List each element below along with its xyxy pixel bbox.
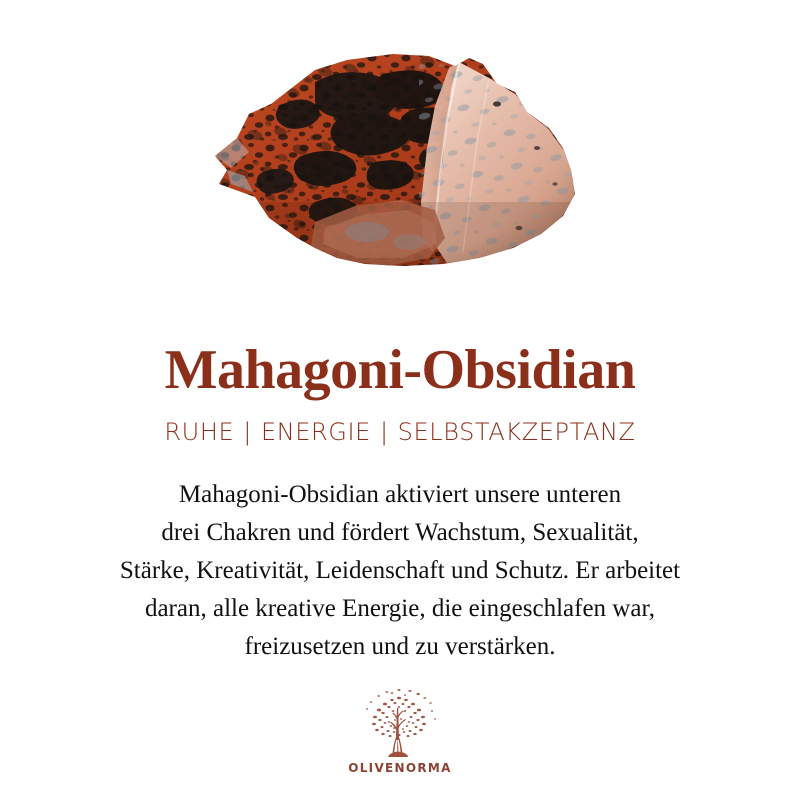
description-line: daran, alle kreative Energie, die einges… xyxy=(50,590,750,628)
stone-body xyxy=(197,52,593,280)
keyword-separator-1: | xyxy=(234,418,261,446)
keyword-self-acceptance: SELBSTAKZEPTANZ xyxy=(398,418,636,446)
description-line: Stärke, Kreativität, Leidenschaft und Sc… xyxy=(50,552,750,590)
stone-illustration xyxy=(197,52,593,280)
brand-logo[interactable]: OLIVENORMA xyxy=(0,686,800,775)
keyword-separator-2: | xyxy=(371,418,398,446)
product-info-card: Mahagoni-Obsidian RUHE|ENERGIE|SELBSTAKZ… xyxy=(0,0,800,800)
description-line: drei Chakren und fördert Wachstum, Sexua… xyxy=(50,514,750,552)
stone-image-area xyxy=(0,0,800,320)
description-text: Mahagoni-Obsidian aktiviert unsere unter… xyxy=(50,476,750,666)
description-line: Mahagoni-Obsidian aktiviert unsere unter… xyxy=(50,476,750,514)
page-title: Mahagoni-Obsidian xyxy=(165,342,636,398)
keyword-energy: ENERGIE xyxy=(261,418,371,446)
description-line: freizusetzen und zu verstärken. xyxy=(50,628,750,666)
tree-icon xyxy=(359,686,441,758)
logo-wordmark: OLIVENORMA xyxy=(348,761,452,775)
keyword-subtitle: RUHE|ENERGIE|SELBSTAKZEPTANZ xyxy=(164,420,635,444)
keyword-calm: RUHE xyxy=(164,418,234,446)
mahogany-obsidian-specimen xyxy=(197,52,593,280)
